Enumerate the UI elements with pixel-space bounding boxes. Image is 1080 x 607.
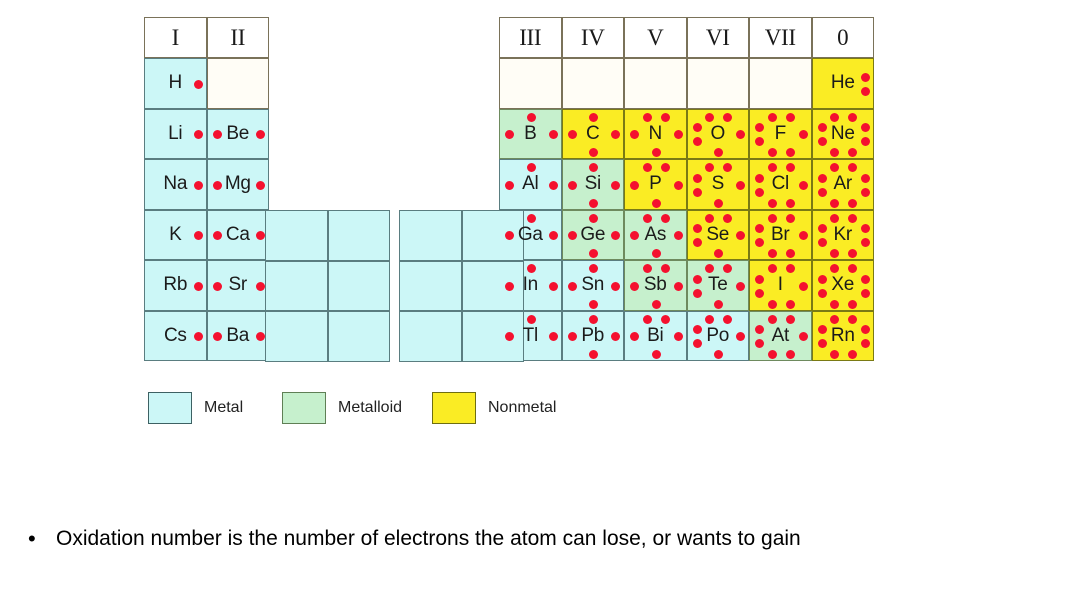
valence-electron-dot — [674, 231, 683, 240]
element-cell-n: N — [624, 109, 687, 160]
valence-electron-dot — [589, 214, 598, 223]
valence-electron-dot — [630, 282, 639, 291]
valence-electron-dot — [505, 130, 514, 139]
element-symbol: Se — [706, 224, 729, 246]
valence-electron-dot — [861, 238, 870, 247]
legend-label-metalloid: Metalloid — [338, 399, 402, 417]
valence-electron-dot — [256, 181, 265, 190]
valence-electron-dot — [768, 148, 777, 157]
transition-left-empty-cell — [328, 311, 391, 362]
bullet-marker-icon: • — [22, 522, 56, 556]
valence-electron-dot — [213, 181, 222, 190]
element-symbol: As — [644, 224, 666, 246]
legend-swatch-nonmetal — [432, 392, 476, 424]
element-cell-cs: Cs — [144, 311, 207, 362]
valence-electron-dot — [589, 350, 598, 359]
valence-electron-dot — [589, 300, 598, 309]
valence-electron-dot — [589, 249, 598, 258]
transition-left-empty-cell — [265, 311, 328, 362]
valence-electron-dot — [861, 188, 870, 197]
valence-electron-dot — [194, 80, 203, 89]
legend-item-nonmetal: Nonmetal — [432, 392, 556, 424]
empty-cell — [687, 58, 750, 109]
valence-electron-dot — [818, 238, 827, 247]
valence-electron-dot — [527, 315, 536, 324]
element-symbol: Rn — [831, 325, 855, 347]
valence-electron-dot — [861, 73, 870, 82]
valence-electron-dot — [755, 275, 764, 284]
element-cell-al: Al — [499, 159, 562, 210]
valence-electron-dot — [736, 282, 745, 291]
group-header-0: 0 — [812, 17, 875, 58]
valence-electron-dot — [830, 264, 839, 273]
valence-electron-dot — [693, 188, 702, 197]
element-cell-mg: Mg — [207, 159, 270, 210]
valence-electron-dot — [786, 350, 795, 359]
element-cell-f: F — [749, 109, 812, 160]
element-symbol: B — [524, 123, 536, 145]
valence-electron-dot — [213, 130, 222, 139]
valence-electron-dot — [693, 275, 702, 284]
valence-electron-dot — [861, 289, 870, 298]
valence-electron-dot — [652, 350, 661, 359]
valence-electron-dot — [830, 315, 839, 324]
valence-electron-dot — [830, 113, 839, 122]
transition-left-empty-cell — [328, 210, 391, 261]
element-cell-kr: Kr — [812, 210, 875, 261]
valence-electron-dot — [786, 113, 795, 122]
valence-electron-dot — [768, 264, 777, 273]
element-symbol: Pb — [581, 325, 604, 347]
element-symbol: I — [778, 274, 783, 296]
valence-electron-dot — [213, 231, 222, 240]
valence-electron-dot — [643, 163, 652, 172]
valence-electron-dot — [256, 332, 265, 341]
valence-electron-dot — [568, 332, 577, 341]
bullet-item: •Oxidation number is the number of elect… — [22, 522, 1022, 556]
valence-electron-dot — [861, 275, 870, 284]
valence-electron-dot — [848, 350, 857, 359]
element-symbol: Sn — [581, 274, 604, 296]
valence-electron-dot — [527, 214, 536, 223]
element-symbol: Po — [706, 325, 729, 347]
element-cell-sr: Sr — [207, 260, 270, 311]
valence-electron-dot — [194, 130, 203, 139]
valence-electron-dot — [589, 264, 598, 273]
element-symbol: Xe — [831, 274, 854, 296]
bullet-text: Oxidation number is the number of electr… — [56, 522, 801, 556]
element-symbol: O — [711, 123, 725, 145]
group-header-label: III — [519, 25, 541, 51]
valence-electron-dot — [589, 163, 598, 172]
group-header-iv: IV — [562, 17, 625, 58]
legend-swatch-metalloid — [282, 392, 326, 424]
valence-electron-dot — [714, 249, 723, 258]
valence-electron-dot — [705, 315, 714, 324]
valence-electron-dot — [830, 249, 839, 258]
element-symbol: Al — [522, 173, 538, 195]
element-cell-o: O — [687, 109, 750, 160]
valence-electron-dot — [693, 325, 702, 334]
valence-electron-dot — [652, 249, 661, 258]
valence-electron-dot — [568, 282, 577, 291]
valence-electron-dot — [755, 224, 764, 233]
periodic-table-diagram: IIIIIIIVVVIVII0HLiBeNaMgKCaRbSrCsBaHeBCN… — [0, 0, 1080, 380]
valence-electron-dot — [527, 163, 536, 172]
valence-electron-dot — [723, 315, 732, 324]
valence-electron-dot — [643, 214, 652, 223]
element-cell-p: P — [624, 159, 687, 210]
valence-electron-dot — [799, 332, 808, 341]
valence-electron-dot — [661, 315, 670, 324]
valence-electron-dot — [652, 199, 661, 208]
valence-electron-dot — [714, 199, 723, 208]
valence-electron-dot — [661, 264, 670, 273]
element-symbol: Si — [585, 173, 601, 195]
valence-electron-dot — [549, 130, 558, 139]
valence-electron-dot — [786, 214, 795, 223]
element-cell-at: At — [749, 311, 812, 362]
element-symbol: Te — [708, 274, 727, 296]
valence-electron-dot — [786, 264, 795, 273]
valence-electron-dot — [830, 199, 839, 208]
valence-electron-dot — [755, 123, 764, 132]
element-cell-cl: Cl — [749, 159, 812, 210]
valence-electron-dot — [755, 188, 764, 197]
valence-electron-dot — [661, 214, 670, 223]
element-symbol: Sb — [644, 274, 667, 296]
valence-electron-dot — [693, 137, 702, 146]
valence-electron-dot — [736, 130, 745, 139]
valence-electron-dot — [830, 214, 839, 223]
element-symbol: Ca — [226, 224, 250, 246]
valence-electron-dot — [589, 148, 598, 157]
valence-electron-dot — [786, 300, 795, 309]
valence-electron-dot — [818, 188, 827, 197]
valence-electron-dot — [861, 325, 870, 334]
element-cell-k: K — [144, 210, 207, 261]
valence-electron-dot — [549, 332, 558, 341]
valence-electron-dot — [736, 231, 745, 240]
group-header-label: 0 — [837, 25, 848, 51]
valence-electron-dot — [693, 123, 702, 132]
valence-electron-dot — [194, 282, 203, 291]
valence-electron-dot — [589, 315, 598, 324]
valence-electron-dot — [848, 315, 857, 324]
group-header-label: V — [647, 25, 663, 51]
element-symbol: Cl — [772, 173, 789, 195]
valence-electron-dot — [674, 181, 683, 190]
valence-electron-dot — [643, 264, 652, 273]
valence-electron-dot — [505, 282, 514, 291]
element-symbol: Ge — [580, 224, 605, 246]
transition-right-empty-cell — [462, 311, 525, 362]
empty-cell — [749, 58, 812, 109]
valence-electron-dot — [661, 113, 670, 122]
valence-electron-dot — [611, 130, 620, 139]
element-symbol: Sr — [229, 274, 247, 296]
valence-electron-dot — [768, 300, 777, 309]
valence-electron-dot — [830, 300, 839, 309]
element-cell-po: Po — [687, 311, 750, 362]
empty-cell — [499, 58, 562, 109]
transition-right-empty-cell — [399, 210, 462, 261]
valence-electron-dot — [786, 249, 795, 258]
valence-electron-dot — [755, 325, 764, 334]
element-cell-be: Be — [207, 109, 270, 160]
group-header-label: I — [172, 25, 179, 51]
group-header-vii: VII — [749, 17, 812, 58]
valence-electron-dot — [755, 137, 764, 146]
group-header-label: VI — [706, 25, 730, 51]
valence-electron-dot — [818, 339, 827, 348]
transition-right-empty-cell — [399, 311, 462, 362]
element-cell-se: Se — [687, 210, 750, 261]
valence-electron-dot — [786, 163, 795, 172]
valence-electron-dot — [723, 214, 732, 223]
valence-electron-dot — [755, 174, 764, 183]
group-header-v: V — [624, 17, 687, 58]
valence-electron-dot — [848, 163, 857, 172]
valence-electron-dot — [705, 113, 714, 122]
valence-electron-dot — [611, 231, 620, 240]
valence-electron-dot — [693, 224, 702, 233]
valence-electron-dot — [256, 231, 265, 240]
element-cell-li: Li — [144, 109, 207, 160]
valence-electron-dot — [643, 315, 652, 324]
slide-canvas: IIIIIIIVVVIVII0HLiBeNaMgKCaRbSrCsBaHeBCN… — [0, 0, 1080, 607]
valence-electron-dot — [714, 350, 723, 359]
valence-electron-dot — [693, 289, 702, 298]
valence-electron-dot — [256, 130, 265, 139]
valence-electron-dot — [723, 163, 732, 172]
valence-electron-dot — [630, 332, 639, 341]
element-symbol: K — [169, 224, 181, 246]
valence-electron-dot — [818, 123, 827, 132]
valence-electron-dot — [693, 339, 702, 348]
group-header-label: IV — [581, 25, 605, 51]
valence-electron-dot — [768, 163, 777, 172]
element-cell-s: S — [687, 159, 750, 210]
element-symbol: Cs — [164, 325, 187, 347]
element-cell-c: C — [562, 109, 625, 160]
empty-cell — [562, 58, 625, 109]
valence-electron-dot — [768, 249, 777, 258]
element-symbol: Kr — [834, 224, 852, 246]
legend-item-metalloid: Metalloid — [282, 392, 402, 424]
element-symbol: Na — [163, 173, 187, 195]
valence-electron-dot — [818, 325, 827, 334]
element-symbol: Bi — [647, 325, 663, 347]
element-cell-as: As — [624, 210, 687, 261]
valence-electron-dot — [818, 174, 827, 183]
valence-electron-dot — [755, 339, 764, 348]
element-cell-rb: Rb — [144, 260, 207, 311]
valence-electron-dot — [768, 350, 777, 359]
valence-electron-dot — [194, 231, 203, 240]
element-symbol: F — [775, 123, 786, 145]
valence-electron-dot — [643, 113, 652, 122]
valence-electron-dot — [848, 300, 857, 309]
valence-electron-dot — [799, 130, 808, 139]
element-symbol: In — [523, 274, 538, 296]
valence-electron-dot — [861, 87, 870, 96]
element-cell-pb: Pb — [562, 311, 625, 362]
valence-electron-dot — [848, 199, 857, 208]
valence-electron-dot — [848, 148, 857, 157]
valence-electron-dot — [723, 264, 732, 273]
valence-electron-dot — [723, 113, 732, 122]
valence-electron-dot — [630, 181, 639, 190]
element-cell-sb: Sb — [624, 260, 687, 311]
valence-electron-dot — [568, 130, 577, 139]
element-symbol: Tl — [523, 325, 538, 347]
element-symbol: Ne — [831, 123, 855, 145]
valence-electron-dot — [674, 282, 683, 291]
transition-right-empty-cell — [399, 261, 462, 312]
valence-electron-dot — [589, 199, 598, 208]
valence-electron-dot — [213, 332, 222, 341]
group-header-vi: VI — [687, 17, 750, 58]
element-cell-bi: Bi — [624, 311, 687, 362]
element-cell-te: Te — [687, 260, 750, 311]
group-header-ii: II — [207, 17, 270, 58]
valence-electron-dot — [861, 224, 870, 233]
element-symbol: P — [649, 173, 661, 195]
valence-electron-dot — [661, 163, 670, 172]
element-cell-ar: Ar — [812, 159, 875, 210]
bullet-list: •Oxidation number is the number of elect… — [22, 522, 1022, 556]
valence-electron-dot — [786, 315, 795, 324]
element-cell-ca: Ca — [207, 210, 270, 261]
valence-electron-dot — [848, 214, 857, 223]
element-cell-ba: Ba — [207, 311, 270, 362]
transition-right-empty-cell — [462, 210, 525, 261]
valence-electron-dot — [755, 238, 764, 247]
element-cell-xe: Xe — [812, 260, 875, 311]
legend-label-nonmetal: Nonmetal — [488, 399, 556, 417]
valence-electron-dot — [568, 231, 577, 240]
valence-electron-dot — [786, 148, 795, 157]
valence-electron-dot — [714, 300, 723, 309]
valence-electron-dot — [611, 181, 620, 190]
valence-electron-dot — [848, 264, 857, 273]
element-symbol: S — [712, 173, 724, 195]
element-cell-br: Br — [749, 210, 812, 261]
element-symbol: At — [772, 325, 789, 347]
element-cell-ge: Ge — [562, 210, 625, 261]
valence-electron-dot — [755, 289, 764, 298]
valence-electron-dot — [630, 130, 639, 139]
valence-electron-dot — [848, 113, 857, 122]
valence-electron-dot — [505, 181, 514, 190]
valence-electron-dot — [736, 332, 745, 341]
valence-electron-dot — [549, 282, 558, 291]
valence-electron-dot — [213, 282, 222, 291]
element-cell-ne: Ne — [812, 109, 875, 160]
transition-left-empty-cell — [328, 261, 391, 312]
valence-electron-dot — [736, 181, 745, 190]
valence-electron-dot — [705, 163, 714, 172]
valence-electron-dot — [830, 148, 839, 157]
group-header-label: II — [230, 25, 245, 51]
valence-electron-dot — [693, 174, 702, 183]
valence-electron-dot — [818, 224, 827, 233]
valence-electron-dot — [611, 282, 620, 291]
element-cell-rn: Rn — [812, 311, 875, 362]
legend-label-metal: Metal — [204, 399, 243, 417]
element-symbol: Rb — [163, 274, 187, 296]
valence-electron-dot — [549, 231, 558, 240]
valence-electron-dot — [652, 300, 661, 309]
element-symbol: Li — [168, 123, 182, 145]
empty-cell — [207, 58, 270, 109]
element-cell-si: Si — [562, 159, 625, 210]
valence-electron-dot — [830, 163, 839, 172]
empty-cell — [624, 58, 687, 109]
valence-electron-dot — [568, 181, 577, 190]
element-symbol: Ar — [834, 173, 852, 195]
element-cell-na: Na — [144, 159, 207, 210]
element-cell-b: B — [499, 109, 562, 160]
valence-electron-dot — [705, 214, 714, 223]
element-symbol: Br — [771, 224, 789, 246]
legend-swatch-metal — [148, 392, 192, 424]
valence-electron-dot — [611, 332, 620, 341]
group-header-label: VII — [765, 25, 796, 51]
group-header-i: I — [144, 17, 207, 58]
valence-electron-dot — [799, 282, 808, 291]
valence-electron-dot — [861, 123, 870, 132]
valence-electron-dot — [818, 275, 827, 284]
valence-electron-dot — [861, 174, 870, 183]
element-symbol: N — [649, 123, 662, 145]
valence-electron-dot — [527, 264, 536, 273]
valence-electron-dot — [861, 339, 870, 348]
valence-electron-dot — [527, 113, 536, 122]
transition-left-empty-cell — [265, 261, 328, 312]
element-symbol: Be — [226, 123, 249, 145]
valence-electron-dot — [799, 231, 808, 240]
valence-electron-dot — [589, 113, 598, 122]
valence-electron-dot — [256, 282, 265, 291]
element-cell-sn: Sn — [562, 260, 625, 311]
valence-electron-dot — [714, 148, 723, 157]
valence-electron-dot — [194, 332, 203, 341]
element-symbol: Mg — [225, 173, 251, 195]
element-symbol: Ba — [226, 325, 249, 347]
group-header-iii: III — [499, 17, 562, 58]
transition-right-empty-cell — [462, 261, 525, 312]
valence-electron-dot — [652, 148, 661, 157]
element-symbol: C — [586, 123, 599, 145]
element-cell-he: He — [812, 58, 875, 109]
valence-electron-dot — [674, 130, 683, 139]
valence-electron-dot — [818, 137, 827, 146]
transition-left-empty-cell — [265, 210, 328, 261]
valence-electron-dot — [705, 264, 714, 273]
element-symbol: H — [169, 72, 182, 94]
valence-electron-dot — [799, 181, 808, 190]
valence-electron-dot — [786, 199, 795, 208]
legend-item-metal: Metal — [148, 392, 243, 424]
valence-electron-dot — [768, 214, 777, 223]
element-cell-i: I — [749, 260, 812, 311]
valence-electron-dot — [549, 181, 558, 190]
valence-electron-dot — [768, 113, 777, 122]
valence-electron-dot — [830, 350, 839, 359]
valence-electron-dot — [194, 181, 203, 190]
